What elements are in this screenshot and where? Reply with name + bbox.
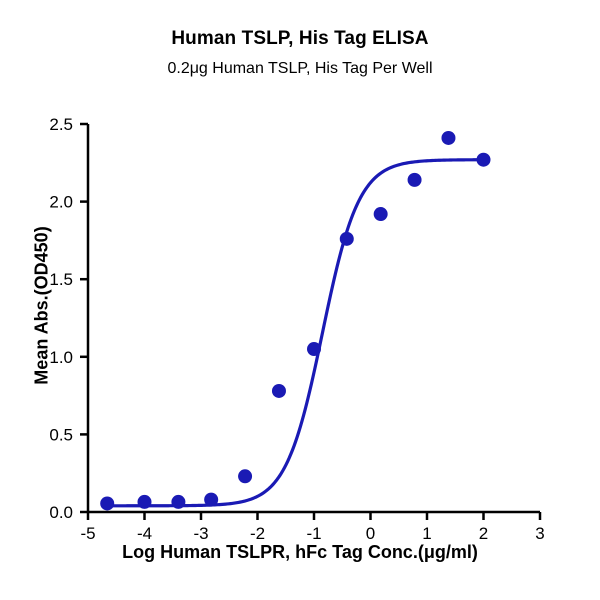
data-point — [408, 173, 422, 187]
data-point — [374, 207, 388, 221]
fit-curve — [105, 160, 486, 506]
x-tick-label: 2 — [479, 524, 488, 543]
data-point — [100, 496, 114, 510]
y-tick-label: 0.5 — [49, 425, 73, 444]
y-tick-label: 1.5 — [49, 270, 73, 289]
y-tick-label: 1.0 — [49, 348, 73, 367]
x-tick-label: 1 — [422, 524, 431, 543]
x-tick-label: -5 — [80, 524, 95, 543]
x-tick-label: -4 — [137, 524, 152, 543]
data-point — [272, 384, 286, 398]
data-point — [441, 131, 455, 145]
chart-container: Human TSLP, His Tag ELISA 0.2μg Human TS… — [0, 0, 600, 600]
y-axis-ticks: 0.0 0.5 1.0 1.5 2.0 2.5 — [49, 115, 88, 522]
data-point — [340, 232, 354, 246]
x-axis-ticks: -5 -4 -3 -2 -1 0 1 2 3 — [80, 512, 544, 543]
data-points — [100, 131, 490, 510]
y-tick-label: 2.0 — [49, 193, 73, 212]
data-point — [238, 469, 252, 483]
data-point — [307, 342, 321, 356]
x-tick-label: 0 — [366, 524, 375, 543]
plot-area: -5 -4 -3 -2 -1 0 1 2 3 0.0 0.5 1.0 1.5 2… — [0, 0, 600, 600]
data-point — [477, 153, 491, 167]
x-tick-label: -1 — [306, 524, 321, 543]
x-tick-label: -3 — [193, 524, 208, 543]
y-axis-label: Mean Abs.(OD450) — [32, 146, 53, 466]
data-point — [204, 493, 218, 507]
x-tick-label: -2 — [250, 524, 265, 543]
x-axis-label: Log Human TSLPR, hFc Tag Conc.(μg/ml) — [0, 542, 600, 563]
x-tick-label: 3 — [535, 524, 544, 543]
data-point — [171, 495, 185, 509]
y-tick-label: 2.5 — [49, 115, 73, 134]
y-tick-label: 0.0 — [49, 503, 73, 522]
data-point — [138, 495, 152, 509]
